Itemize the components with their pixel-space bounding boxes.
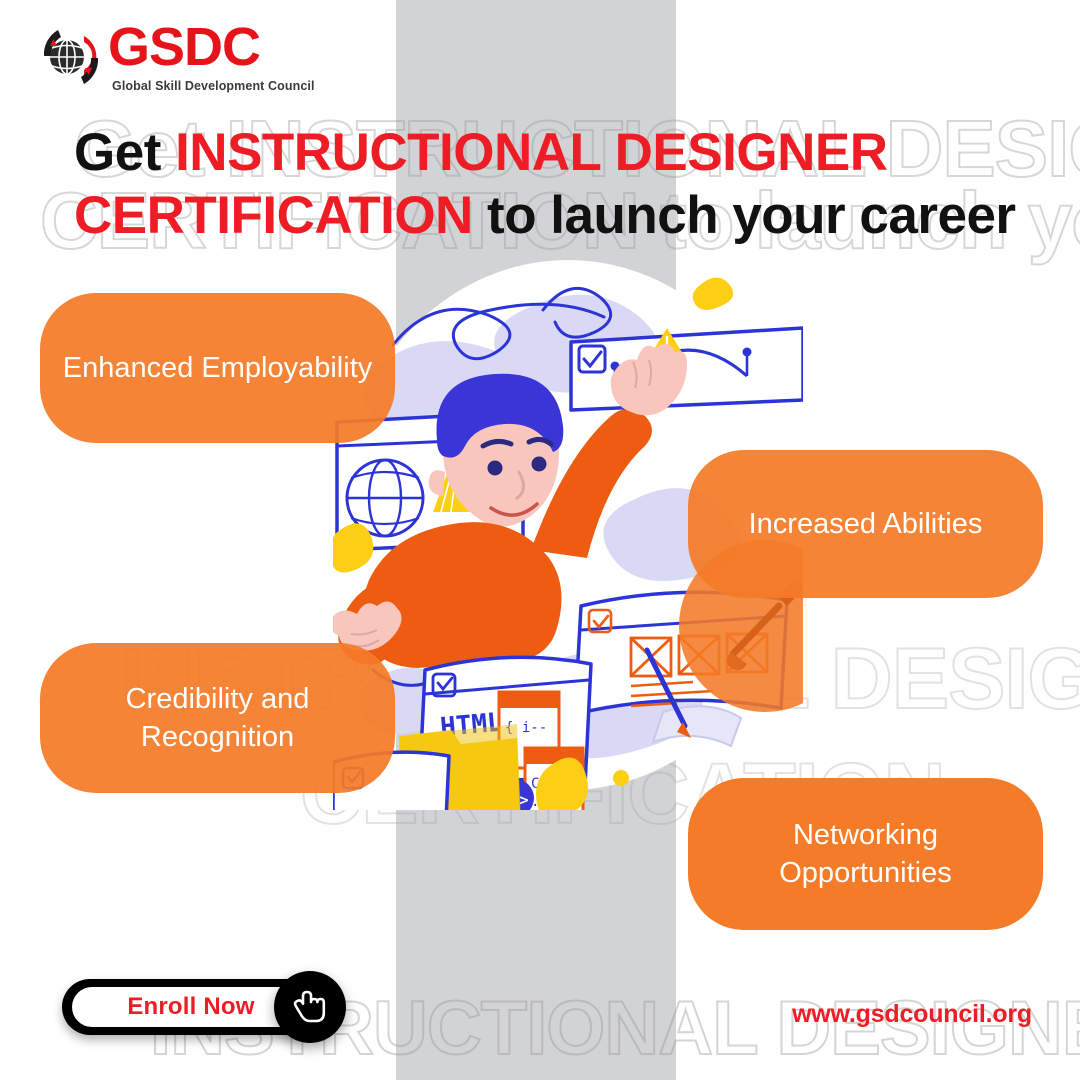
benefit-increased-abilities[interactable]: Increased Abilities <box>688 450 1043 598</box>
headline-part-1: Get <box>74 123 175 182</box>
page-title: Get INSTRUCTIONAL DESIGNER CERTIFICATION… <box>74 122 1064 247</box>
logo-wordmark: GSDC <box>108 20 260 74</box>
enroll-now-cta[interactable]: Enroll Now <box>62 975 362 1041</box>
hand-pointer-icon <box>290 987 330 1027</box>
benefit-credibility-recognition[interactable]: Credibility and Recognition <box>40 643 395 793</box>
poster-canvas: Get INSTRUCTIONAL DESIGNER CERTIFICATION… <box>0 0 1080 1080</box>
website-url[interactable]: www.gsdcouncil.org <box>792 1000 1032 1029</box>
benefit-enhanced-employability[interactable]: Enhanced Employability <box>40 293 395 443</box>
globe-arrows-logo-icon <box>40 26 102 88</box>
cta-cursor-circle[interactable] <box>274 971 346 1043</box>
benefit-networking-opportunities[interactable]: Networking Opportunities <box>688 778 1043 930</box>
headline-part-3: to launch your career <box>473 186 1016 245</box>
enroll-now-label: Enroll Now <box>127 993 254 1021</box>
logo-tagline: Global Skill Development Council <box>112 79 315 93</box>
gsdc-logo[interactable]: GSDC Global Skill Development Council <box>40 22 300 94</box>
